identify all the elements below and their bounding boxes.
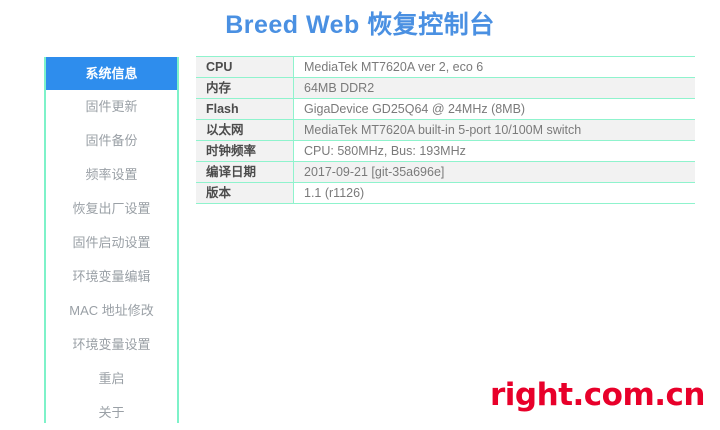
table-row: Flash GigaDevice GD25Q64 @ 24MHz (8MB) — [196, 99, 695, 120]
sidebar-item-env-variable-edit[interactable]: 环境变量编辑 — [46, 260, 177, 294]
system-info-table: CPU MediaTek MT7620A ver 2, eco 6 内存 64M… — [196, 56, 695, 204]
table-cell-value: CPU: 580MHz, Bus: 193MHz — [294, 141, 696, 162]
table-row: 内存 64MB DDR2 — [196, 78, 695, 99]
sidebar-item-label: 系统信息 — [85, 66, 137, 81]
table-cell-key: CPU — [196, 57, 294, 78]
sidebar-item-reboot[interactable]: 重启 — [46, 362, 177, 396]
table-row: 时钟频率 CPU: 580MHz, Bus: 193MHz — [196, 141, 695, 162]
table-cell-value: 2017-09-21 [git-35a696e] — [294, 162, 696, 183]
sidebar-item-label: MAC 地址修改 — [69, 303, 154, 318]
sidebar-item-label: 固件更新 — [85, 99, 137, 114]
sidebar-item-firmware-update[interactable]: 固件更新 — [46, 90, 177, 124]
sidebar-item-label: 频率设置 — [85, 167, 137, 182]
sidebar-item-label: 环境变量编辑 — [72, 269, 150, 284]
sidebar-item-firmware-backup[interactable]: 固件备份 — [46, 124, 177, 158]
table-row: 以太网 MediaTek MT7620A built-in 5-port 10/… — [196, 120, 695, 141]
sidebar-item-system-info[interactable]: 系统信息 — [46, 57, 177, 90]
table-cell-key: 版本 — [196, 183, 294, 204]
table-cell-key: 编译日期 — [196, 162, 294, 183]
table-cell-key: 时钟频率 — [196, 141, 294, 162]
sidebar-item-env-variable-settings[interactable]: 环境变量设置 — [46, 328, 177, 362]
sidebar-item-label: 关于 — [98, 405, 124, 420]
page-title: Breed Web 恢复控制台 — [0, 8, 720, 42]
sidebar-item-label: 恢复出厂设置 — [72, 201, 150, 216]
sidebar-item-frequency-settings[interactable]: 频率设置 — [46, 158, 177, 192]
sidebar-item-label: 重启 — [98, 371, 124, 386]
table-cell-key: 内存 — [196, 78, 294, 99]
sidebar-item-label: 固件启动设置 — [72, 235, 150, 250]
sidebar-item-mac-address-modify[interactable]: MAC 地址修改 — [46, 294, 177, 328]
table-row: CPU MediaTek MT7620A ver 2, eco 6 — [196, 57, 695, 78]
table-cell-value: 64MB DDR2 — [294, 78, 696, 99]
watermark: right.com.cn — [490, 378, 705, 412]
table-cell-value: 1.1 (r1126) — [294, 183, 696, 204]
sidebar-item-about[interactable]: 关于 — [46, 396, 177, 430]
table-cell-key: Flash — [196, 99, 294, 120]
sidebar-item-firmware-boot-settings[interactable]: 固件启动设置 — [46, 226, 177, 260]
table-cell-value: GigaDevice GD25Q64 @ 24MHz (8MB) — [294, 99, 696, 120]
sidebar-item-label: 环境变量设置 — [72, 337, 150, 352]
table-row: 版本 1.1 (r1126) — [196, 183, 695, 204]
table-cell-key: 以太网 — [196, 120, 294, 141]
sidebar: 系统信息 固件更新 固件备份 频率设置 恢复出厂设置 固件启动设置 环境变量编辑… — [44, 57, 179, 423]
sidebar-item-factory-reset[interactable]: 恢复出厂设置 — [46, 192, 177, 226]
table-cell-value: MediaTek MT7620A ver 2, eco 6 — [294, 57, 696, 78]
sidebar-item-label: 固件备份 — [85, 133, 137, 148]
table-row: 编译日期 2017-09-21 [git-35a696e] — [196, 162, 695, 183]
table-cell-value: MediaTek MT7620A built-in 5-port 10/100M… — [294, 120, 696, 141]
